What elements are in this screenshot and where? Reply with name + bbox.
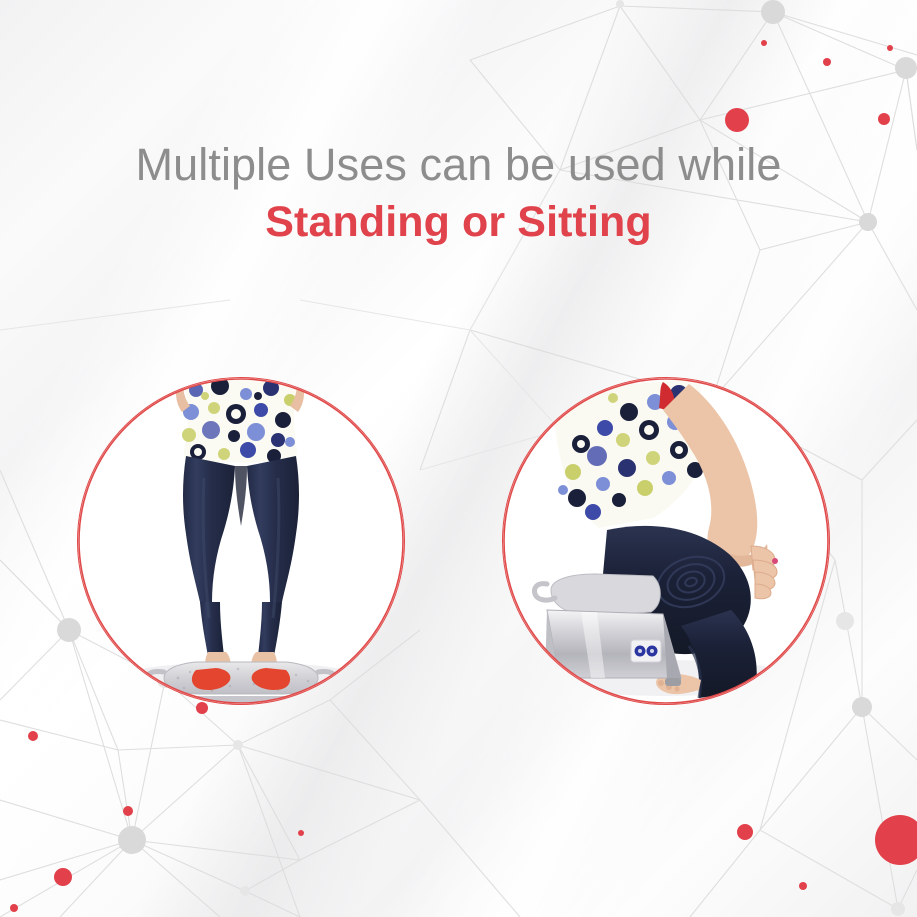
accent-dot xyxy=(54,868,72,886)
accent-dot xyxy=(799,882,807,890)
accent-dot xyxy=(123,806,133,816)
photo-sitting xyxy=(502,377,830,705)
mesh-node xyxy=(118,826,146,854)
accent-dot xyxy=(887,45,893,51)
accent-dot xyxy=(10,904,18,912)
accent-dot xyxy=(28,731,38,741)
accent-dot xyxy=(875,815,917,865)
page-title: Multiple Uses can be used while Standing… xyxy=(0,136,917,250)
accent-dot xyxy=(725,108,749,132)
banner-canvas: Multiple Uses can be used while Standing… xyxy=(0,0,917,917)
accent-dot xyxy=(298,830,304,836)
accent-dot xyxy=(761,40,767,46)
mesh-node xyxy=(836,612,854,630)
headline-line-1: Multiple Uses can be used while xyxy=(0,136,917,194)
accent-dot xyxy=(878,113,890,125)
mesh-node xyxy=(859,213,877,231)
mesh-node xyxy=(895,57,917,79)
headline-line-2: Standing or Sitting xyxy=(0,194,917,250)
mesh-node xyxy=(852,697,872,717)
mesh-node xyxy=(761,0,785,24)
photo-standing xyxy=(77,377,405,705)
accent-dot xyxy=(737,824,753,840)
accent-dot xyxy=(823,58,831,66)
mesh-node xyxy=(616,0,624,8)
mesh-node xyxy=(233,740,243,750)
mesh-node xyxy=(891,902,905,916)
mesh-node xyxy=(240,886,250,896)
